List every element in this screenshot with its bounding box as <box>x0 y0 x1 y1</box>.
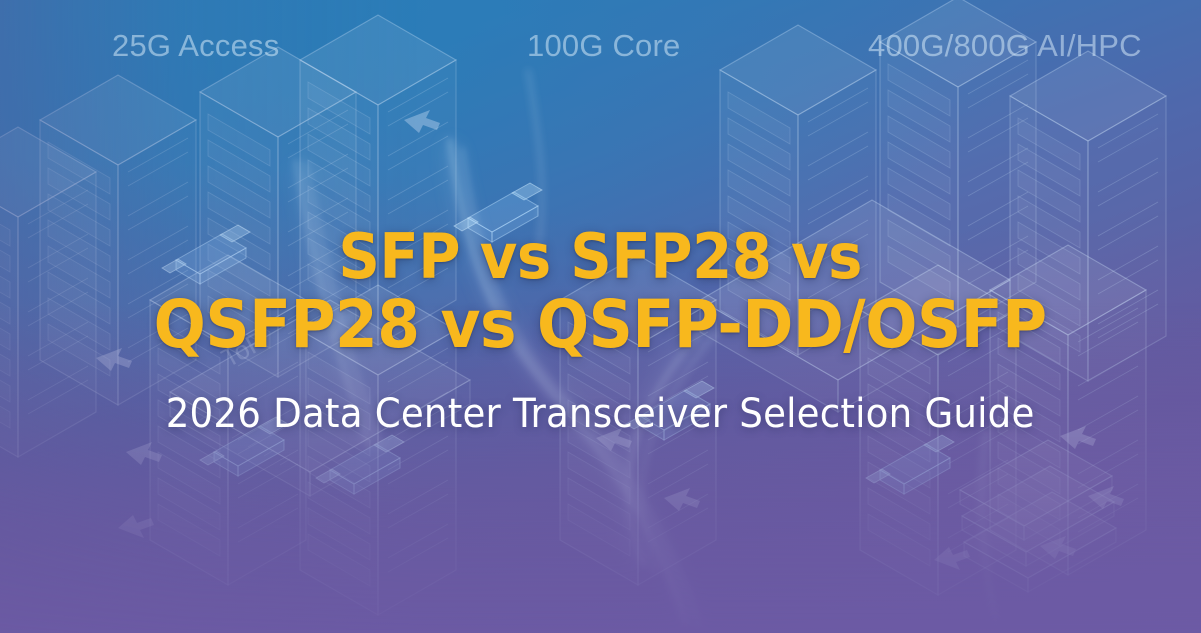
page-title-line-1: SFP vs SFP28 vs <box>154 224 1047 290</box>
page-title-line-2: QSFP28 vs QSFP-DD/OSFP <box>154 290 1047 361</box>
page-title: SFP vs SFP28 vs QSFP28 vs QSFP-DD/OSFP <box>154 224 1047 361</box>
hero-banner: ToR <box>0 0 1201 633</box>
headline-block: SFP vs SFP28 vs QSFP28 vs QSFP-DD/OSFP 2… <box>0 0 1201 633</box>
page-subtitle: 2026 Data Center Transceiver Selection G… <box>166 391 1035 437</box>
